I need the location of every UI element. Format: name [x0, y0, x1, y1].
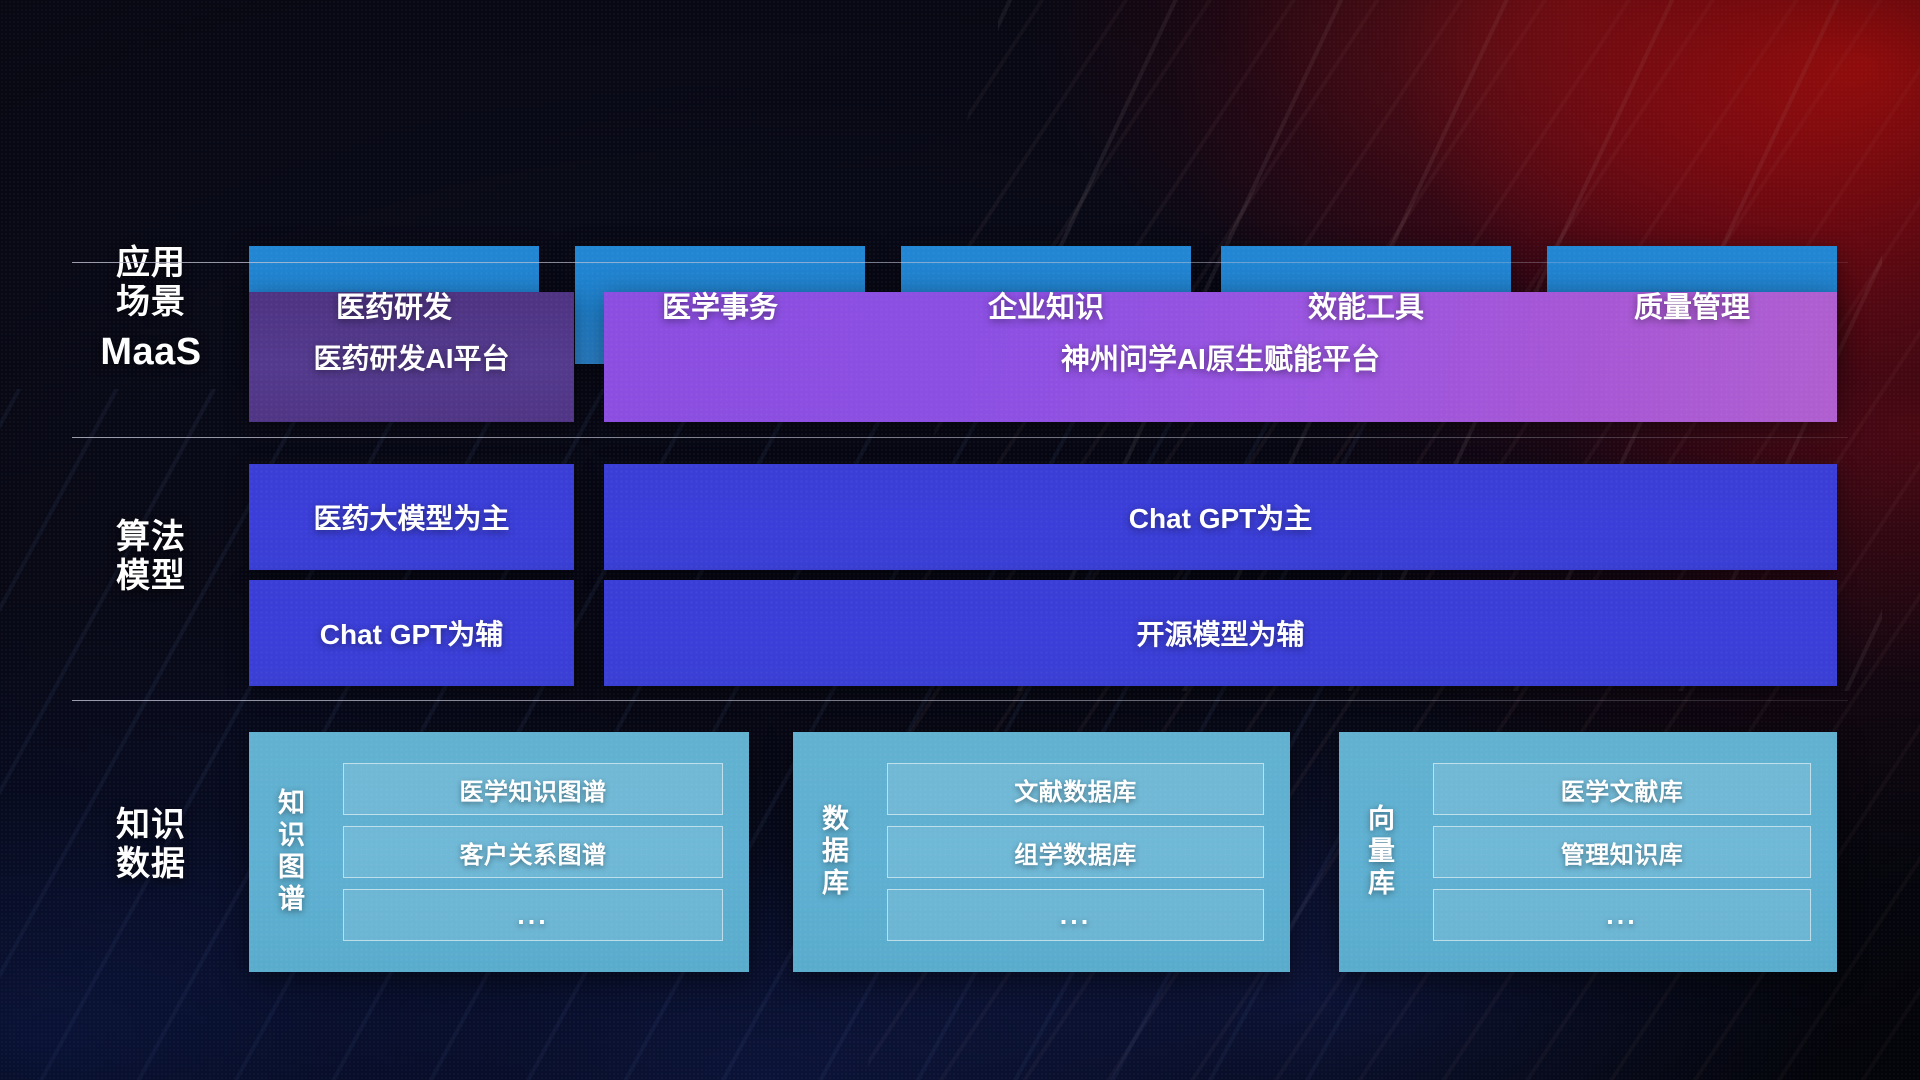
- knowledge-item-customer-relation-graph[interactable]: 客户关系图谱: [343, 826, 723, 878]
- knowledge-group-title: 知 识 图 谱: [249, 732, 335, 972]
- algo-card-label: Chat GPT为主: [1129, 497, 1313, 537]
- app-card-label: 企业知识: [988, 284, 1104, 326]
- divider-applications-maas: [72, 262, 1848, 263]
- maas-card-label: 神州问学AI原生赋能平台: [1061, 336, 1380, 378]
- app-card-label: 效能工具: [1308, 284, 1424, 326]
- algo-card-label: 开源模型为辅: [1136, 613, 1304, 653]
- architecture-diagram: 应用 场景 医药研发 医学事务 企业知识 效能工具 质量管理 MaaS 医药研发…: [0, 0, 1920, 1080]
- row-label-maas: MaaS: [86, 330, 216, 374]
- algo-card-label: 医药大模型为主: [313, 497, 509, 537]
- row-label-line-1: 应用: [86, 244, 216, 283]
- row-label-knowledge-data: 知识 数据: [86, 806, 216, 885]
- knowledge-group-title-char: 库: [1368, 868, 1396, 900]
- knowledge-item-omics-database[interactable]: 组学数据库: [887, 826, 1264, 878]
- row-label-line-2: 场景: [86, 283, 216, 322]
- knowledge-group-items: 医学知识图谱 客户关系图谱 ...: [335, 732, 749, 972]
- divider-algorithm-knowledge: [72, 700, 1848, 701]
- knowledge-group-knowledge-graph: 知 识 图 谱 医学知识图谱 客户关系图谱 ...: [249, 732, 749, 972]
- knowledge-item-medical-literature-store[interactable]: 医学文献库: [1433, 763, 1811, 815]
- knowledge-group-title-char: 谱: [278, 884, 306, 916]
- row-label-application-scenarios: 应用 场景: [86, 244, 216, 323]
- knowledge-group-database: 数 据 库 文献数据库 组学数据库 ...: [793, 732, 1290, 972]
- algo-card-chatgpt-primary[interactable]: Chat GPT为主: [604, 464, 1837, 570]
- knowledge-group-title: 数 据 库: [793, 732, 879, 972]
- row-label-line-1: 知识: [86, 806, 216, 845]
- row-label-line-2: 模型: [86, 557, 216, 596]
- row-label-line-2: 数据: [86, 845, 216, 884]
- divider-maas-algorithm: [72, 437, 1848, 438]
- app-card-label: 医学事务: [662, 284, 778, 326]
- knowledge-group-title-char: 库: [822, 868, 850, 900]
- algo-card-chatgpt-secondary[interactable]: Chat GPT为辅: [249, 580, 574, 686]
- knowledge-item-management-knowledge-store[interactable]: 管理知识库: [1433, 826, 1811, 878]
- knowledge-item-more[interactable]: ...: [1433, 889, 1811, 941]
- knowledge-item-more[interactable]: ...: [343, 889, 723, 941]
- knowledge-group-items: 医学文献库 管理知识库 ...: [1425, 732, 1837, 972]
- knowledge-group-title-char: 数: [822, 804, 850, 836]
- row-label-algorithm-models: 算法 模型: [86, 518, 216, 597]
- algo-card-label: Chat GPT为辅: [320, 613, 504, 653]
- knowledge-group-title-char: 据: [822, 836, 850, 868]
- knowledge-group-title-char: 识: [278, 820, 306, 852]
- knowledge-group-title-char: 量: [1368, 836, 1396, 868]
- knowledge-item-more[interactable]: ...: [887, 889, 1264, 941]
- knowledge-group-title-char: 向: [1368, 804, 1396, 836]
- knowledge-group-title-char: 知: [278, 788, 306, 820]
- row-application-scenarios: 应用 场景 医药研发 医学事务 企业知识 效能工具 质量管理: [0, 118, 1920, 246]
- algo-card-opensource-secondary[interactable]: 开源模型为辅: [604, 580, 1837, 686]
- app-card-label: 医药研发: [336, 284, 452, 326]
- knowledge-group-vector-store: 向 量 库 医学文献库 管理知识库 ...: [1339, 732, 1837, 972]
- knowledge-group-title: 向 量 库: [1339, 732, 1425, 972]
- maas-card-label: 医药研发AI平台: [313, 337, 509, 377]
- algo-card-pharma-llm-primary[interactable]: 医药大模型为主: [249, 464, 574, 570]
- app-card-label: 质量管理: [1634, 284, 1750, 326]
- knowledge-item-literature-database[interactable]: 文献数据库: [887, 763, 1264, 815]
- knowledge-item-medical-knowledge-graph[interactable]: 医学知识图谱: [343, 763, 723, 815]
- knowledge-group-items: 文献数据库 组学数据库 ...: [879, 732, 1290, 972]
- row-label-line-1: 算法: [86, 518, 216, 557]
- knowledge-group-title-char: 图: [278, 852, 306, 884]
